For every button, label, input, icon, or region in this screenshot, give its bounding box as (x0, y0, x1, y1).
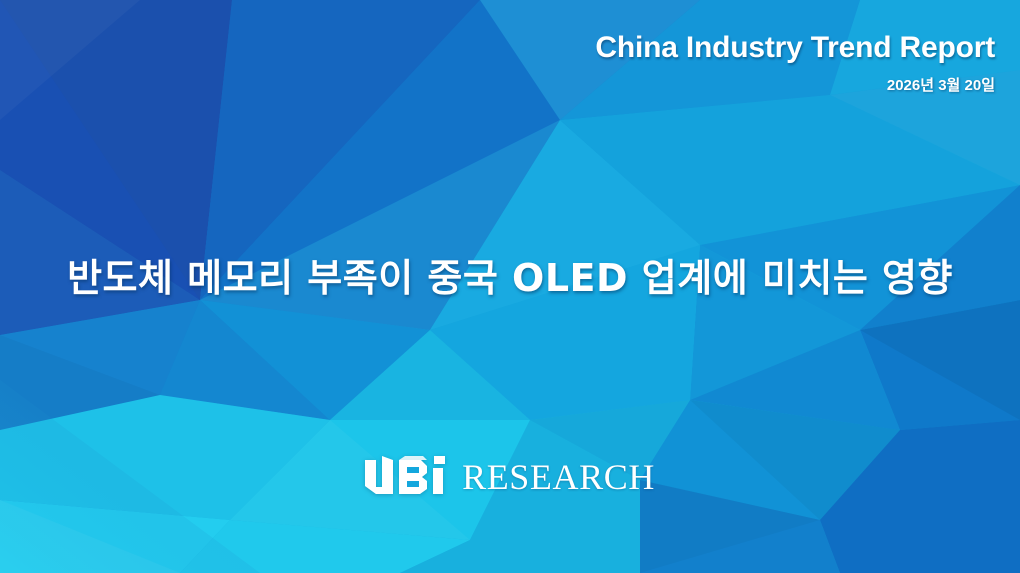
report-date: 2026년 3월 20일 (595, 74, 995, 95)
page-title: 반도체 메모리 부족이 중국 OLED 업계에 미치는 영향 (0, 258, 1020, 300)
report-series-title: China Industry Trend Report (595, 33, 995, 63)
logo-wordmark: RESEARCH (462, 459, 655, 497)
report-cover-slide: China Industry Trend Report 2026년 3월 20일… (0, 0, 1020, 573)
ubi-logo-icon (365, 456, 457, 500)
company-logo: RESEARCH (0, 456, 1020, 500)
report-header: China Industry Trend Report 2026년 3월 20일 (595, 33, 995, 95)
